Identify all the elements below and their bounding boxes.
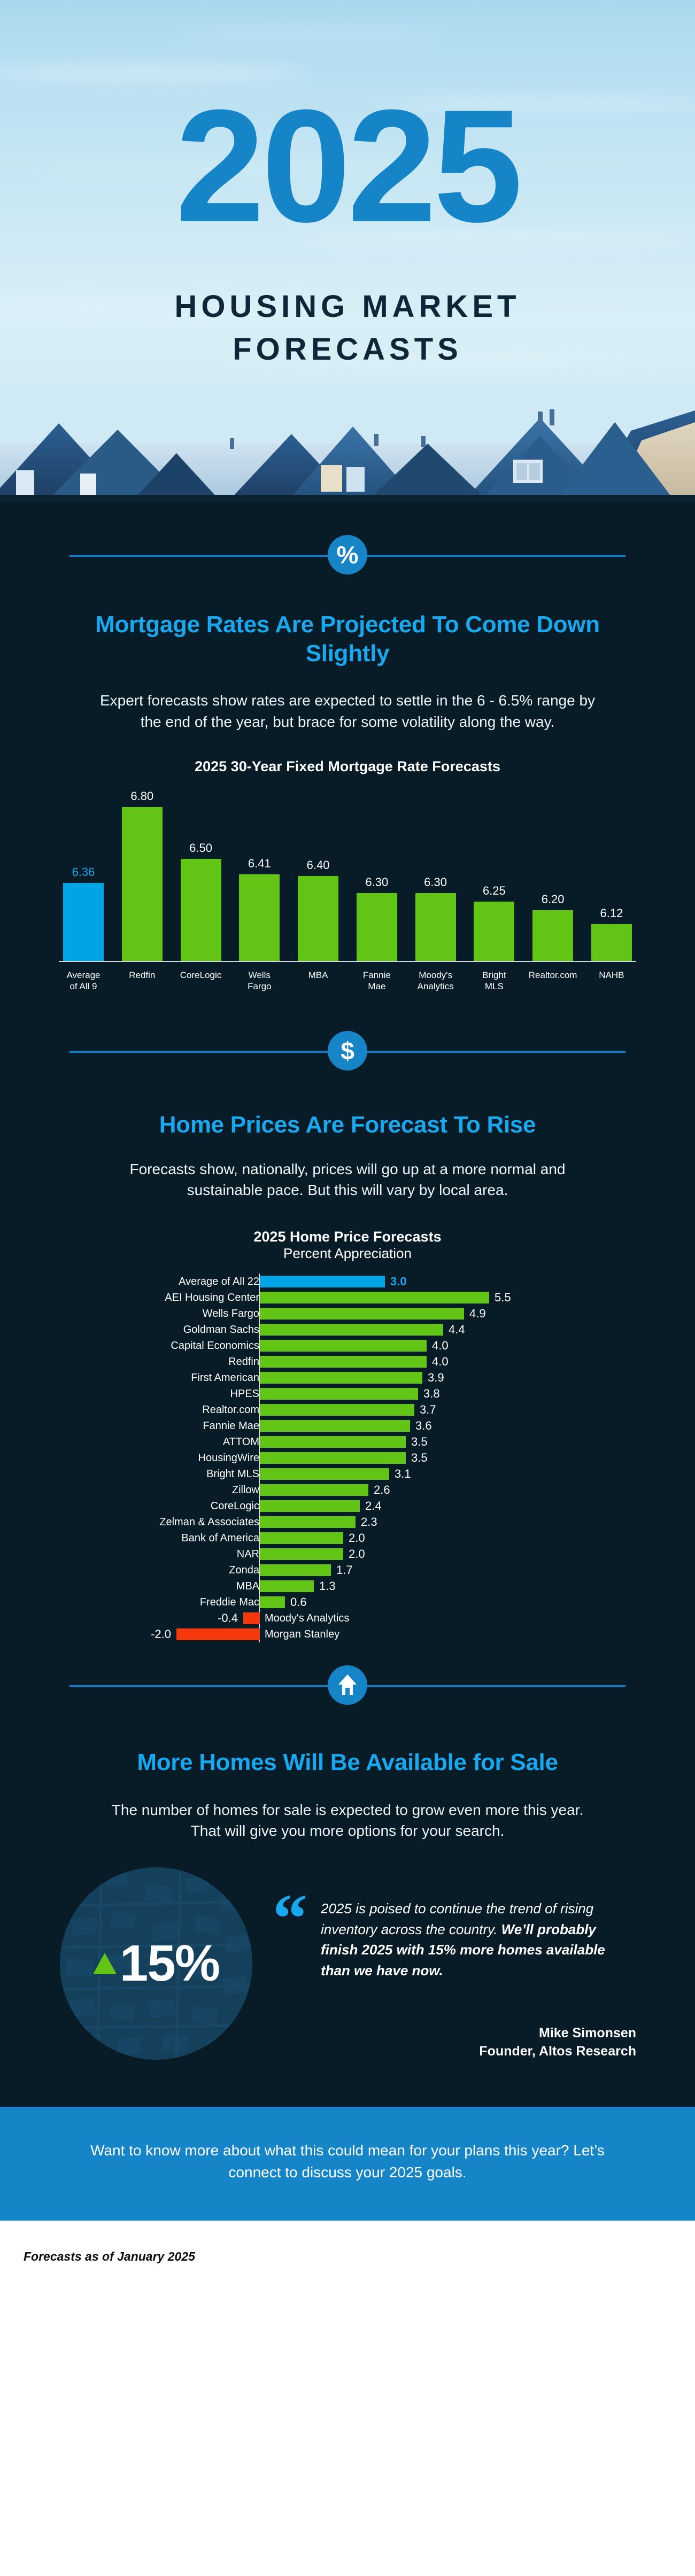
bar-value-label: 2.0 <box>349 1531 365 1545</box>
bar-category-label: Zonda <box>56 1564 259 1577</box>
horizontal-bar-row: CoreLogic2.4 <box>0 1498 695 1514</box>
vertical-bar: 6.40 <box>294 781 343 962</box>
section-body-mortgage-rates: Expert forecasts show rates are expected… <box>0 690 695 733</box>
bar-rect <box>357 893 397 962</box>
stat-row: 15% <box>60 1938 252 1989</box>
cloud-streak <box>171 28 449 40</box>
bar-value-label: 3.5 <box>411 1435 428 1449</box>
bar-category-label: Wells Fargo <box>235 964 284 1007</box>
bar-rect <box>260 1340 427 1352</box>
house-icon-svg <box>337 1674 358 1696</box>
section-divider-house <box>0 1653 695 1717</box>
vertical-bar: 6.30 <box>352 781 401 962</box>
infographic-body: % Mortgage Rates Are Projected To Come D… <box>0 502 695 2107</box>
bar-rect <box>260 1436 406 1448</box>
horizontal-bar-row: Capital Economics4.0 <box>0 1338 695 1354</box>
bar-value-label: 3.9 <box>428 1371 444 1385</box>
bar-category-label: First American <box>56 1372 259 1384</box>
section-divider-dollar: $ <box>0 1019 695 1083</box>
bar-category-label: Zillow <box>56 1484 259 1496</box>
horizontal-bar-row: HPES3.8 <box>0 1386 695 1402</box>
bar-value-label: 3.1 <box>395 1467 411 1481</box>
bar-value-label: 3.0 <box>390 1275 407 1289</box>
bar-category-label: Fannie Mae <box>352 964 401 1007</box>
horizontal-bars-container: Average of All 223.0AEI Housing Center5.… <box>0 1274 695 1642</box>
inventory-stat-number: 15% <box>120 1938 219 1989</box>
bar-category-label: ATTOM <box>56 1436 259 1448</box>
horizontal-bar-row: Zelman & Associates2.3 <box>0 1514 695 1530</box>
bar-value-label: 6.30 <box>365 875 388 889</box>
hero-year: 2025 <box>0 92 695 239</box>
quote-text: 2025 is poised to continue the trend of … <box>321 1898 636 1981</box>
bar-category-label: Freddie Mac <box>56 1596 259 1609</box>
vertical-bar: 6.80 <box>118 781 167 962</box>
bar-rect <box>260 1516 356 1528</box>
bar-value-label: 6.50 <box>189 841 212 855</box>
bar-rect <box>260 1292 489 1303</box>
vertical-bar: 6.25 <box>469 781 519 962</box>
bar-rect <box>532 910 573 962</box>
quote-author: Mike Simonsen <box>479 2024 636 2043</box>
vertical-bar: 6.30 <box>411 781 460 962</box>
horizontal-bar-row: AEI Housing Center5.5 <box>0 1290 695 1306</box>
bar-category-label: Wells Fargo <box>56 1308 259 1320</box>
bar-rect-negative <box>243 1612 260 1624</box>
bar-category-label: MBA <box>56 1580 259 1593</box>
bar-value-label: 4.0 <box>432 1355 449 1369</box>
section-body-more-homes: The number of homes for sale is expected… <box>0 1799 695 1842</box>
inventory-stat-circle: 15% <box>60 1867 252 2060</box>
bar-rect <box>260 1596 285 1608</box>
bar-rect <box>591 924 632 962</box>
horizontal-bar-row: Freddie Mac0.6 <box>0 1594 695 1610</box>
bar-value-label: 3.5 <box>411 1451 428 1465</box>
vertical-axis-labels: Average of All 9RedfinCoreLogicWells Far… <box>59 964 636 1007</box>
bar-category-label: HPES <box>56 1388 259 1400</box>
section-title-more-homes: More Homes Will Be Available for Sale <box>0 1748 695 1777</box>
bar-category-label: CoreLogic <box>176 964 226 1007</box>
hero-subtitle-line-1: HOUSING MARKET <box>0 289 695 324</box>
vertical-bars-container: 6.366.806.506.416.406.306.306.256.206.12 <box>59 781 636 962</box>
quote-mark-icon: “ <box>273 1894 307 1944</box>
bar-category-label: Realtor.com <box>528 964 577 1007</box>
home-price-bar-chart: Average of All 223.0AEI Housing Center5.… <box>0 1274 695 1653</box>
cta-text: Want to know more about what this could … <box>80 2140 615 2183</box>
bar-value-label: -0.4 <box>210 1611 238 1625</box>
bar-rect <box>260 1468 389 1480</box>
bar-value-label: 6.30 <box>424 875 447 889</box>
horizontal-bar-row: Redfin4.0 <box>0 1354 695 1370</box>
bar-value-label: 1.3 <box>319 1579 336 1593</box>
horizontal-bar-row: Realtor.com3.7 <box>0 1402 695 1418</box>
bar-rect <box>474 902 514 962</box>
section-divider-percent: % <box>0 523 695 587</box>
bar-value-label: 2.0 <box>349 1547 365 1561</box>
hero-banner: 2025 HOUSING MARKET FORECASTS <box>0 0 695 502</box>
chart-title-mortgage-rates: 2025 30-Year Fixed Mortgage Rate Forecas… <box>0 758 695 775</box>
horizontal-bar-row: Bank of America2.0 <box>0 1530 695 1546</box>
bar-value-label: 6.80 <box>130 789 153 803</box>
horizontal-bar-row: Average of All 223.0 <box>0 1274 695 1290</box>
quote-attribution: Mike Simonsen Founder, Altos Research <box>479 2024 636 2061</box>
bar-category-label: Fannie Mae <box>56 1420 259 1432</box>
horizontal-bar-row: Goldman Sachs4.4 <box>0 1322 695 1338</box>
bar-rect <box>260 1324 443 1336</box>
bar-category-label: Moody's Analytics <box>265 1612 349 1625</box>
vertical-bar: 6.20 <box>528 781 577 962</box>
bar-category-label: Capital Economics <box>56 1340 259 1352</box>
bar-category-label: CoreLogic <box>56 1500 259 1512</box>
bar-value-label: 4.0 <box>432 1339 449 1353</box>
chart-subtitle-home-prices: Percent Appreciation <box>0 1245 695 1262</box>
bar-category-label: NAR <box>56 1548 259 1561</box>
bar-rect <box>415 893 456 962</box>
bar-category-label: NAHB <box>587 964 636 1007</box>
section-title-mortgage-rates: Mortgage Rates Are Projected To Come Dow… <box>0 610 695 668</box>
quote-block: 15% “ 2025 is poised to continue the tre… <box>0 1863 695 2088</box>
bar-category-label: AEI Housing Center <box>56 1292 259 1304</box>
chart-title-home-prices: 2025 Home Price Forecasts <box>0 1229 695 1245</box>
dollar-icon-glyph: $ <box>341 1038 354 1063</box>
horizontal-bar-row: -2.0Morgan Stanley <box>0 1626 695 1642</box>
bar-rect <box>239 874 280 962</box>
dollar-icon: $ <box>328 1031 367 1070</box>
vertical-bar: 6.12 <box>587 781 636 962</box>
vertical-bar: 6.41 <box>235 781 284 962</box>
bar-value-label: 2.3 <box>361 1515 377 1529</box>
bar-value-label: 1.7 <box>336 1563 353 1577</box>
vertical-bar: 6.36 <box>59 781 108 962</box>
horizontal-bar-row: -0.4Moody's Analytics <box>0 1610 695 1626</box>
footnote: Forecasts as of January 2025 <box>0 2221 695 2285</box>
bar-rect <box>122 807 163 962</box>
footnote-text: Forecasts as of January 2025 <box>24 2249 195 2263</box>
bar-rect <box>260 1276 385 1287</box>
bar-value-label: 2.4 <box>365 1499 382 1513</box>
bar-category-label: Goldman Sachs <box>56 1324 259 1336</box>
bar-category-label: Bank of America <box>56 1532 259 1545</box>
bar-category-label: Average of All 22 <box>56 1276 259 1288</box>
bar-value-label: 3.8 <box>423 1387 440 1401</box>
bar-rect <box>260 1532 343 1544</box>
bar-rect <box>260 1356 427 1368</box>
horizontal-bar-row: HousingWire3.5 <box>0 1450 695 1466</box>
bar-value-label: 5.5 <box>495 1291 511 1305</box>
bar-category-label: Redfin <box>118 964 167 1007</box>
bar-rect <box>260 1420 410 1432</box>
percent-icon-glyph: % <box>337 542 359 567</box>
up-arrow-icon <box>93 1953 117 1974</box>
bar-value-label: 6.41 <box>248 857 271 871</box>
bar-rect <box>260 1484 368 1496</box>
bar-value-label: 6.25 <box>483 884 506 898</box>
bar-rect <box>260 1308 464 1320</box>
bar-rect <box>181 859 221 962</box>
neighborhood-rooftops-photo <box>0 385 695 502</box>
bar-category-label: Bright MLS <box>469 964 519 1007</box>
bar-rect <box>260 1500 360 1512</box>
section-body-home-prices: Forecasts show, nationally, prices will … <box>0 1159 695 1201</box>
bar-rect <box>63 883 104 962</box>
horizontal-bar-row: MBA1.3 <box>0 1578 695 1594</box>
vertical-bar: 6.50 <box>176 781 226 962</box>
house-icon <box>328 1665 367 1705</box>
hero-subtitle-line-2: FORECASTS <box>0 331 695 367</box>
horizontal-bar-row: Zillow2.6 <box>0 1482 695 1498</box>
bar-value-label: 6.36 <box>72 865 95 879</box>
bar-category-label: Average of All 9 <box>59 964 108 1007</box>
bar-value-label: 6.20 <box>542 893 565 906</box>
bar-category-label: Zelman & Associates <box>56 1516 259 1528</box>
bar-category-label: HousingWire <box>56 1452 259 1464</box>
bar-rect <box>260 1372 422 1384</box>
bar-value-label: 2.6 <box>374 1483 390 1497</box>
section-title-home-prices: Home Prices Are Forecast To Rise <box>0 1111 695 1139</box>
horizontal-bar-row: NAR2.0 <box>0 1546 695 1562</box>
bar-rect <box>260 1452 406 1464</box>
bar-rect-negative <box>176 1628 260 1640</box>
bar-value-label: 3.7 <box>420 1403 436 1417</box>
chart-axis-line <box>59 961 636 962</box>
horizontal-bar-row: First American3.9 <box>0 1370 695 1386</box>
bar-value-label: 0.6 <box>290 1595 307 1609</box>
bar-category-label: Bright MLS <box>56 1468 259 1480</box>
bar-value-label: 4.4 <box>449 1323 465 1337</box>
bar-value-label: 6.40 <box>307 858 330 872</box>
mortgage-rate-bar-chart: 6.366.806.506.416.406.306.306.256.206.12… <box>0 781 695 1011</box>
bar-value-label: 4.9 <box>469 1307 486 1321</box>
horizontal-bar-row: Wells Fargo4.9 <box>0 1306 695 1322</box>
horizontal-bar-row: ATTOM3.5 <box>0 1434 695 1450</box>
bar-value-label: 6.12 <box>600 906 623 920</box>
horizontal-bar-row: Bright MLS3.1 <box>0 1466 695 1482</box>
bar-value-label: -2.0 <box>143 1627 171 1641</box>
bar-category-label: Morgan Stanley <box>265 1628 339 1641</box>
quote-author-title: Founder, Altos Research <box>479 2043 636 2061</box>
bar-value-label: 3.6 <box>415 1419 432 1433</box>
percent-icon: % <box>328 535 367 575</box>
bar-category-label: Redfin <box>56 1356 259 1368</box>
bar-category-label: MBA <box>294 964 343 1007</box>
horizontal-bar-row: Zonda1.7 <box>0 1562 695 1578</box>
bar-rect <box>298 876 338 962</box>
horizontal-bar-row: Fannie Mae3.6 <box>0 1418 695 1434</box>
bar-rect <box>260 1548 343 1560</box>
bar-category-label: Realtor.com <box>56 1404 259 1416</box>
bar-rect <box>260 1404 414 1416</box>
bar-rect <box>260 1564 331 1576</box>
bar-rect <box>260 1388 418 1400</box>
cta-banner[interactable]: Want to know more about what this could … <box>0 2107 695 2221</box>
bar-rect <box>260 1580 314 1592</box>
bar-category-label: Moody's Analytics <box>411 964 460 1007</box>
